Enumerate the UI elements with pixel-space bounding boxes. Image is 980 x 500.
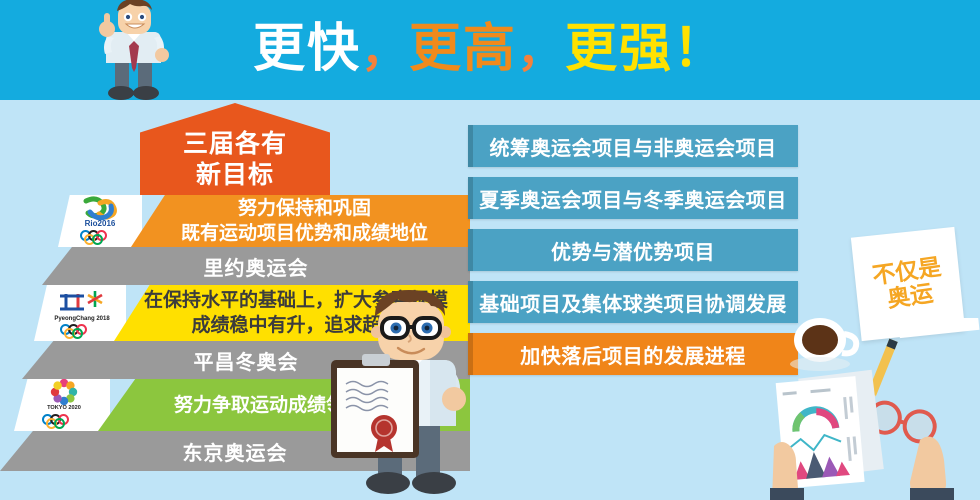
goals-list-item-2-label: 夏季奥运会项目与冬季奥运会项目 [479,184,787,213]
infographic-canvas: 更快，更高，更强！ [0,0,980,500]
title-part-1: 更快 [253,20,361,78]
olympic-rings-icon [60,324,100,339]
svg-text:PyeongChang 2018: PyeongChang 2018 [54,316,110,322]
pyramid-cap-line1: 三届各有 [140,129,330,160]
goals-list-item-5[interactable]: 加快落后项目的发展进程 [468,333,798,375]
goals-list-item-3[interactable]: 优势与潜优势项目 [468,229,798,271]
rio-content-line2: 既有运动项目优势和成绩地位 [181,221,428,246]
certificate-clipboard-illustration [328,352,424,462]
tokyo-2020-logo: TOKYO 2020 [30,379,94,431]
right-hand-illustration [910,436,954,500]
goals-list-item-1-label: 统筹奥运会项目与非奥运会项目 [490,132,777,161]
tokyo-logo-tab: TOKYO 2020 [14,379,110,431]
pyramid-cap: 三届各有 新目标 [140,103,330,195]
rio-logo-tab: Rio2016 [58,195,142,247]
svg-text:TOKYO 2020: TOKYO 2020 [47,405,81,411]
title-comma-1: ， [361,24,409,76]
title-part-3: 更强！ [565,20,727,78]
rio-content-text: 努力保持和巩固 既有运动项目优势和成绩地位 [173,196,428,246]
coffee-cup-icon [790,318,856,371]
goals-list-item-4-label: 基础项目及集体球类项目协调发展 [479,288,787,317]
pyeongchang-2018-logo: PyeongChang 2018 [48,287,112,339]
title-part-2: 更高 [409,20,517,78]
desk-scene-illustration [770,318,980,500]
pyeongchang-logo-tab: PyeongChang 2018 [34,285,126,341]
goals-list-item-3-label: 优势与潜优势项目 [551,236,715,265]
goals-list-item-5-label: 加快落后项目的发展进程 [520,340,746,369]
svg-text:Rio2016: Rio2016 [85,219,116,228]
goals-list-item-2[interactable]: 夏季奥运会项目与冬季奥运会项目 [468,177,798,219]
rio-content-band: 努力保持和巩固 既有运动项目优势和成绩地位 [131,195,470,247]
sticky-note-text: 不仅是 奥运 [870,254,945,313]
goals-list-item-1[interactable]: 统筹奥运会项目与非奥运会项目 [468,125,798,167]
olympic-rings-icon [80,230,120,245]
pyramid-cap-text: 三届各有 新目标 [140,129,330,191]
pyramid-label-rio-text: 里约奥运会 [204,252,309,281]
pyramid-cap-line2: 新目标 [140,160,330,191]
title-comma-2: ， [517,24,565,76]
goals-list-item-4[interactable]: 基础项目及集体球类项目协调发展 [468,281,798,323]
goals-list: 统筹奥运会项目与非奥运会项目 夏季奥运会项目与冬季奥运会项目 优势与潜优势项目 … [468,125,813,385]
olympic-rings-icon [42,414,82,429]
pyramid-step-rio: Rio2016 努力保持和巩固 既有运动项目优势和成绩地位 [58,195,470,247]
rio-2016-logo: Rio2016 [68,195,132,247]
businessman-pointing-up-illustration [88,0,180,102]
rio-content-line1: 努力保持和巩固 [181,196,428,221]
pyramid-label-pyeongchang-text: 平昌冬奥会 [194,346,299,375]
pyramid-label-tokyo-text: 东京奥运会 [183,437,288,466]
